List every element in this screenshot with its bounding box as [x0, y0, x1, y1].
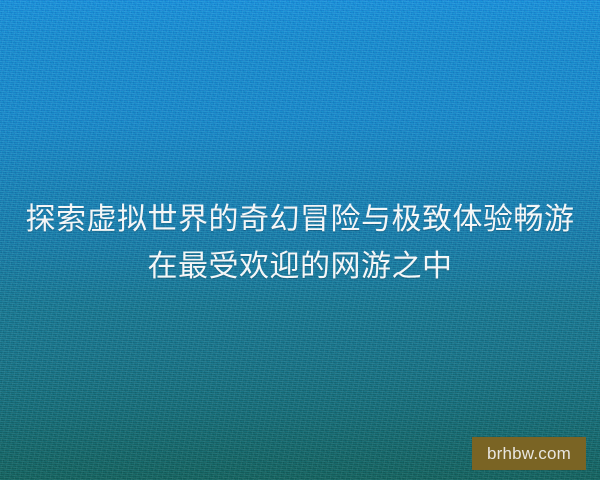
watermark-badge[interactable]: brhbw.com — [472, 437, 586, 470]
watermark-label: brhbw.com — [487, 445, 571, 462]
headline-container: 探索虚拟世界的奇幻冒险与极致体验畅游 在最受欢迎的网游之中 — [0, 196, 600, 290]
banner-headline: 探索虚拟世界的奇幻冒险与极致体验畅游 在最受欢迎的网游之中 — [22, 196, 578, 290]
promo-banner: 探索虚拟世界的奇幻冒险与极致体验畅游 在最受欢迎的网游之中 brhbw.com — [0, 0, 600, 480]
